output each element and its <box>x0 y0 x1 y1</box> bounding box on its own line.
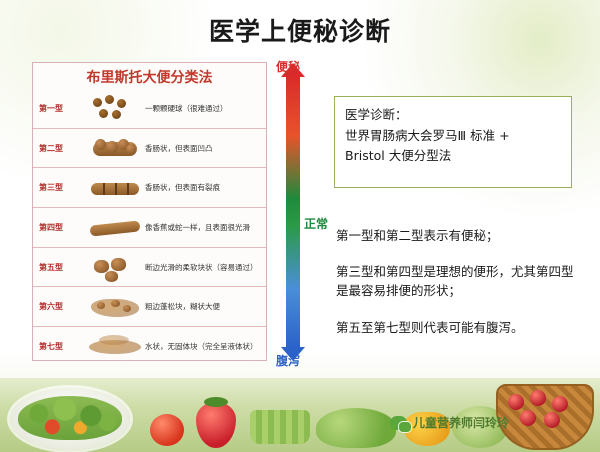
mushy-icon <box>85 288 145 326</box>
table-row: 第六型 粗边蓬松块，糊状大便 <box>33 286 266 326</box>
table-row: 第二型 香肠状，但表面凹凸 <box>33 128 266 168</box>
row-type-label: 第四型 <box>33 222 85 233</box>
row-type-label: 第七型 <box>33 341 85 352</box>
tomato-shape <box>150 414 184 446</box>
berry-shape <box>552 396 568 412</box>
berry-basket-shape <box>496 384 594 450</box>
lettuce-shape <box>316 408 396 448</box>
footer-account: 儿童营养师闫玲玲 <box>390 414 509 431</box>
scale-label-diarrhea: 腹泻 <box>276 352 300 369</box>
diagnosis-line-1: 医学诊断： <box>345 105 561 126</box>
bristol-chart-title: 布里斯托大便分类法 <box>33 67 266 87</box>
row-type-label: 第六型 <box>33 301 85 312</box>
table-row: 第四型 像香蕉或蛇一样，且表面很光滑 <box>33 207 266 247</box>
footer-account-name: 儿童营养师闫玲玲 <box>413 414 509 431</box>
wechat-icon <box>390 416 407 430</box>
table-row: 第一型 一颗颗硬球（很难通过） <box>33 89 266 128</box>
berry-shape <box>508 394 524 410</box>
row-description: 水状，无固体块（完全呈液体状） <box>145 342 261 351</box>
salad-shape <box>18 396 122 440</box>
table-row: 第三型 香肠状，但表面有裂痕 <box>33 167 266 207</box>
berry-shape <box>530 390 546 406</box>
row-description: 像香蕉或蛇一样，且表面很光滑 <box>145 223 253 232</box>
bristol-chart-rows: 第一型 一颗颗硬球（很难通过） 第二型 <box>33 89 266 366</box>
row-type-label: 第二型 <box>33 143 85 154</box>
row-type-label: 第三型 <box>33 182 85 193</box>
celery-shape <box>250 410 310 444</box>
row-description: 一颗颗硬球（很难通过） <box>145 104 231 113</box>
note-paragraph-1: 第一型和第二型表示有便秘； <box>336 226 584 245</box>
row-description: 香肠状，但表面凹凸 <box>145 144 216 153</box>
scale-label-normal: 正常 <box>304 215 328 232</box>
note-paragraph-2: 第三型和第四型是理想的便形，尤其第四型是最容易排便的形状； <box>336 262 584 301</box>
berry-shape <box>520 410 536 426</box>
smooth-sausage-icon <box>85 208 145 246</box>
severity-scale-arrow <box>286 76 300 348</box>
table-row: 第五型 断边光滑的柔软块状（容易通过） <box>33 247 266 287</box>
liquid-icon <box>85 327 145 365</box>
row-description: 粗边蓬松块，糊状大便 <box>145 302 223 311</box>
berry-shape <box>544 412 560 428</box>
row-type-label: 第五型 <box>33 262 85 273</box>
lumpy-sausage-icon <box>85 129 145 167</box>
slide-canvas: 医学上便秘诊断 布里斯托大便分类法 第一型 一颗颗硬球（很难通过） 第二型 <box>0 0 600 452</box>
table-row: 第七型 水状，无固体块（完全呈液体状） <box>33 326 266 366</box>
row-description: 断边光滑的柔软块状（容易通过） <box>145 263 261 272</box>
decorative-food-band <box>0 362 600 452</box>
row-description: 香肠状，但表面有裂痕 <box>145 183 223 192</box>
diagnosis-box: 医学诊断： 世界胃肠病大会罗马Ⅲ 标准 + Bristol 大便分型法 <box>334 96 572 188</box>
row-type-label: 第一型 <box>33 103 85 114</box>
note-paragraph-3: 第五至第七型则代表可能有腹泻。 <box>336 318 584 337</box>
hard-lumps-icon <box>85 89 145 127</box>
soft-blobs-icon <box>85 248 145 286</box>
page-title: 医学上便秘诊断 <box>0 12 600 48</box>
scale-label-constipation: 便秘 <box>276 58 300 75</box>
cracked-sausage-icon <box>85 169 145 207</box>
bristol-chart-card: 布里斯托大便分类法 第一型 一颗颗硬球（很难通过） 第二型 <box>32 62 267 361</box>
diagnosis-line-2: 世界胃肠病大会罗马Ⅲ 标准 + <box>345 126 561 147</box>
diagnosis-line-3: Bristol 大便分型法 <box>345 146 561 167</box>
